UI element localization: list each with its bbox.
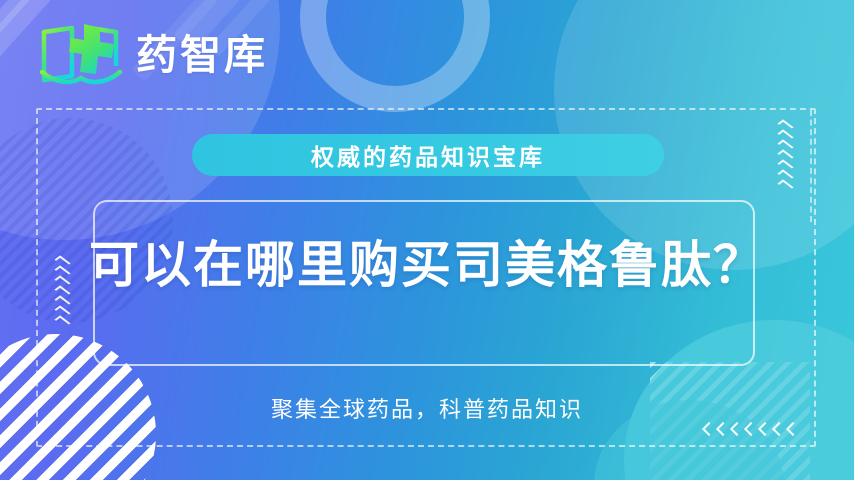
chevron-up-icon <box>777 129 793 141</box>
footer-tagline: 聚集全球药品，科普药品知识 <box>0 392 854 424</box>
promo-banner: 药智库 权威的药品知识宝库 可以在哪里购买司美格鲁肽？ 聚集全球药品，科普药品知… <box>0 0 854 480</box>
chevron-up-icon <box>54 305 70 317</box>
chevron-up-icon <box>777 169 793 181</box>
chevron-up-group-right <box>779 122 792 189</box>
chevron-left-icon <box>730 422 744 436</box>
chevron-left-icon <box>716 422 730 436</box>
brand-logo[interactable]: 药智库 <box>38 22 268 88</box>
chevron-left-group <box>704 424 798 434</box>
chevron-left-icon <box>702 422 716 436</box>
chevron-left-icon <box>744 422 758 436</box>
ring-shape <box>300 0 490 112</box>
chevron-up-icon <box>54 285 70 297</box>
tagline-badge-label: 权威的药品知识宝库 <box>311 138 545 172</box>
chevron-left-icon <box>786 422 800 436</box>
chevron-up-icon <box>777 119 793 131</box>
chevron-up-group-left <box>56 258 69 325</box>
page-title: 可以在哪里购买司美格鲁肽？ <box>0 238 854 293</box>
brand-name: 药智库 <box>136 35 268 76</box>
chevron-left-icon <box>758 422 772 436</box>
chevron-up-icon <box>54 295 70 307</box>
chevron-up-icon <box>777 159 793 171</box>
tagline-badge: 权威的药品知识宝库 <box>192 134 664 176</box>
chevron-up-icon <box>777 139 793 151</box>
chevron-up-icon <box>54 265 70 277</box>
chevron-up-icon <box>777 149 793 161</box>
chevron-up-icon <box>54 275 70 287</box>
open-book-plus-icon <box>38 22 124 88</box>
chevron-up-icon <box>54 255 70 267</box>
dashed-vertical-divider <box>810 110 812 222</box>
chevron-left-icon <box>772 422 786 436</box>
